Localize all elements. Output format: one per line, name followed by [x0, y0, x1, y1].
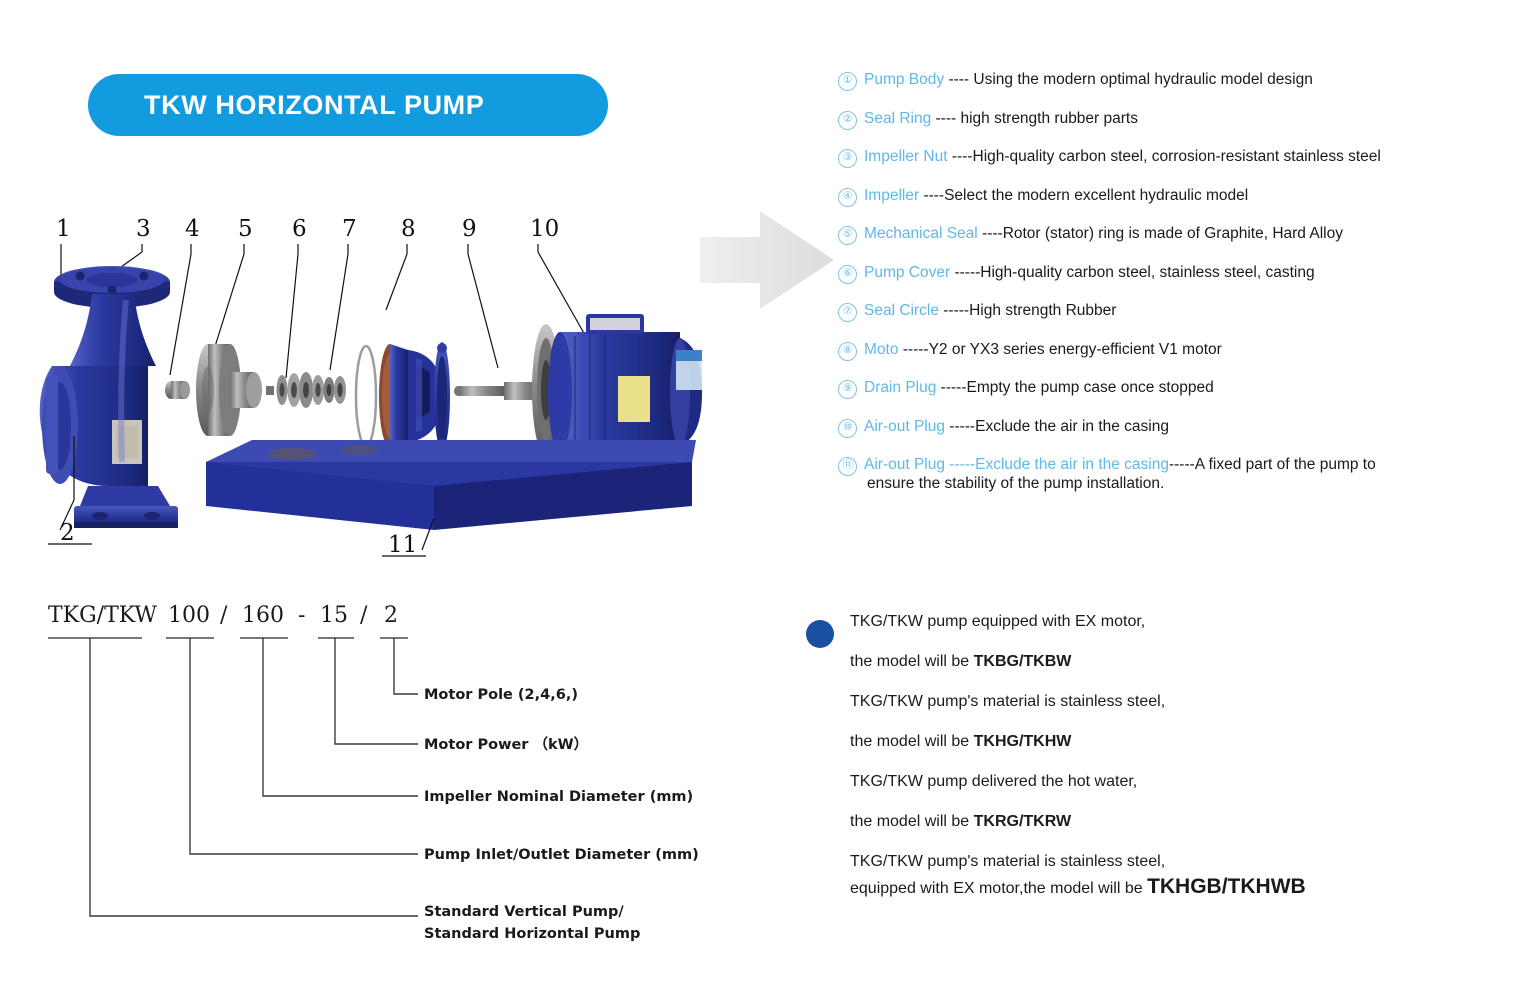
- note-line: TKG/TKW pump equipped with EX motor,: [850, 612, 1446, 631]
- model-code-diagram: TKG/TKW 100 / 160 - 15 / 2 Motor Pole (2…: [30, 596, 730, 966]
- callout-label-standard-vertical: Standard Vertical Pump/: [424, 904, 624, 920]
- circled-number-icon: ⑦: [838, 303, 857, 322]
- callout-number-3: 3: [136, 216, 151, 242]
- callout-label-inlet-diameter: Pump Inlet/Outlet Diameter (mm): [424, 847, 699, 863]
- circled-number-icon: ③: [838, 149, 857, 168]
- note-line: TKG/TKW pump delivered the hot water,: [850, 772, 1446, 791]
- legend-separator: ----: [948, 148, 973, 165]
- note-line: equipped with EX motor,the model will be…: [850, 877, 1446, 898]
- legend-separator: -----: [945, 456, 975, 473]
- note-prefix: the model will be: [850, 813, 974, 830]
- code-slash-1: /: [220, 603, 228, 628]
- impeller-part: [196, 344, 262, 436]
- callout-number-4: 4: [185, 216, 200, 242]
- legend-description: -----A fixed part of the pump to: [1169, 456, 1376, 473]
- callout-label-motor-power: Motor Power （kW）: [424, 735, 588, 753]
- legend-description: Exclude the air in the casing: [975, 418, 1169, 435]
- legend-part-name: Seal Circle: [864, 302, 939, 319]
- note-model-code: TKRG/TKRW: [974, 813, 1071, 830]
- legend-item: ④ Impeller ----Select the modern excelle…: [838, 186, 1498, 207]
- legend-part-name: Pump Cover: [864, 264, 950, 281]
- note-model-code: TKHG/TKHW: [974, 733, 1072, 750]
- legend-part-name: Moto: [864, 341, 898, 358]
- parts-legend-list: ① Pump Body ---- Using the modern optima…: [838, 70, 1498, 511]
- motor-nameplate: [618, 376, 650, 422]
- code-segment-inlet: 100: [168, 603, 210, 628]
- legend-part-name: Drain Plug: [864, 379, 936, 396]
- code-slash-2: /: [360, 603, 368, 628]
- legend-description-continued: ensure the stability of the pump install…: [867, 474, 1498, 493]
- note-line: the model will be TKBG/TKBW: [850, 652, 1446, 671]
- legend-part-name: Seal Ring: [864, 110, 931, 127]
- page-title-banner: TKW HORIZONTAL PUMP: [88, 74, 608, 136]
- base-plate-part: [206, 440, 696, 530]
- callout-number-10: 10: [530, 216, 559, 242]
- circled-number-icon: ⑥: [838, 265, 857, 284]
- legend-separator: -----: [939, 302, 969, 319]
- legend-part-name: Impeller: [864, 187, 919, 204]
- code-segment-impeller: 160: [242, 603, 284, 628]
- callout-number-1: 1: [56, 216, 71, 242]
- circled-number-icon: ⑩: [838, 419, 857, 438]
- page-title: TKW HORIZONTAL PUMP: [88, 90, 484, 121]
- callout-label-impeller-diameter: Impeller Nominal Diameter (mm): [424, 789, 693, 805]
- code-segment-pole: 2: [384, 603, 398, 628]
- legend-item: ① Pump Body ---- Using the modern optima…: [838, 70, 1498, 91]
- circled-number-icon: ②: [838, 111, 857, 130]
- legend-description: Empty the pump case once stopped: [967, 379, 1214, 396]
- note-prefix: equipped with EX motor,the model will be: [850, 880, 1147, 897]
- code-segment-series: TKG/TKW: [48, 603, 157, 628]
- legend-part-name: Air-out Plug: [864, 456, 945, 473]
- callout-label-motor-pole: Motor Pole (2,4,6,): [424, 687, 578, 703]
- legend-separator: ----: [978, 225, 1003, 242]
- seal-circle-part: [356, 346, 376, 446]
- legend-separator: ----: [944, 71, 973, 88]
- circled-number-icon: ⑨: [838, 380, 857, 399]
- flow-arrow: [700, 205, 840, 315]
- legend-item: ⑪ Air-out Plug -----Exclude the air in t…: [838, 455, 1498, 493]
- legend-description: High-quality carbon steel, corrosion-res…: [973, 148, 1381, 165]
- callout-number-8: 8: [401, 216, 416, 242]
- legend-part-name: Mechanical Seal: [864, 225, 978, 242]
- legend-description: Select the modern excellent hydraulic mo…: [944, 187, 1248, 204]
- note-line: TKG/TKW pump's material is stainless ste…: [850, 852, 1446, 871]
- callout-number-11: 11: [388, 532, 417, 558]
- note-prefix: the model will be: [850, 653, 974, 670]
- legend-part-name: Pump Body: [864, 71, 944, 88]
- legend-description: high strength rubber parts: [960, 110, 1138, 127]
- legend-item: ② Seal Ring ---- high strength rubber pa…: [838, 109, 1498, 130]
- note-prefix: the model will be: [850, 733, 974, 750]
- circled-number-icon: ④: [838, 188, 857, 207]
- circled-number-icon: ①: [838, 72, 857, 91]
- legend-item: ③ Impeller Nut ----High-quality carbon s…: [838, 147, 1498, 168]
- legend-separator: ----: [931, 110, 960, 127]
- note-model-code: TKHGB/TKHWB: [1147, 875, 1306, 898]
- note-line: the model will be TKRG/TKRW: [850, 812, 1446, 831]
- mechanical-seal-part: [266, 372, 346, 408]
- callout-number-5: 5: [238, 216, 253, 242]
- callout-number-2: 2: [60, 520, 75, 546]
- note-model-code: TKBG/TKBW: [974, 653, 1072, 670]
- motor-shaft-part: [454, 382, 543, 400]
- legend-description-blue: Exclude the air in the casing: [975, 456, 1169, 473]
- legend-description: Y2 or YX3 series energy-efficient V1 mot…: [929, 341, 1222, 358]
- pump-cover-part: [379, 342, 450, 450]
- legend-separator: ----: [919, 187, 944, 204]
- legend-part-name: Impeller Nut: [864, 148, 948, 165]
- pump-body-part: [40, 266, 178, 528]
- legend-item: ⑩ Air-out Plug -----Exclude the air in t…: [838, 417, 1498, 438]
- legend-separator: -----: [945, 418, 975, 435]
- bullet-dot-icon: [806, 620, 834, 648]
- legend-separator: -----: [950, 264, 980, 281]
- legend-item: ⑦ Seal Circle -----High strength Rubber: [838, 301, 1498, 322]
- callout-label-standard-horizontal: Standard Horizontal Pump: [424, 926, 640, 942]
- legend-separator: -----: [936, 379, 966, 396]
- legend-description: Using the modern optimal hydraulic model…: [973, 71, 1312, 88]
- legend-item: ⑥ Pump Cover -----High-quality carbon st…: [838, 263, 1498, 284]
- circled-number-icon: ⑧: [838, 342, 857, 361]
- note-line: the model will be TKHG/TKHW: [850, 732, 1446, 751]
- legend-item: ⑤ Mechanical Seal ----Rotor (stator) rin…: [838, 224, 1498, 245]
- code-segment-power: 15: [320, 603, 348, 628]
- circled-number-icon: ⑤: [838, 226, 857, 245]
- impeller-nut-part: [165, 381, 190, 399]
- callout-number-6: 6: [292, 216, 307, 242]
- legend-description: High strength Rubber: [969, 302, 1116, 319]
- model-variant-notes: TKG/TKW pump equipped with EX motor, the…: [806, 612, 1446, 919]
- callout-number-7: 7: [342, 216, 357, 242]
- legend-item: ⑨ Drain Plug -----Empty the pump case on…: [838, 378, 1498, 399]
- note-line: TKG/TKW pump's material is stainless ste…: [850, 692, 1446, 711]
- legend-separator: -----: [898, 341, 928, 358]
- callout-number-9: 9: [462, 216, 477, 242]
- legend-item: ⑧ Moto -----Y2 or YX3 series energy-effi…: [838, 340, 1498, 361]
- code-dash: -: [298, 603, 305, 628]
- legend-description: High-quality carbon steel, stainless ste…: [980, 264, 1314, 281]
- exploded-pump-diagram: 1 3 4 5 6 7 8 9 10: [30, 200, 710, 580]
- legend-part-name: Air-out Plug: [864, 418, 945, 435]
- circled-number-icon: ⑪: [838, 457, 857, 476]
- legend-description: Rotor (stator) ring is made of Graphite,…: [1003, 225, 1343, 242]
